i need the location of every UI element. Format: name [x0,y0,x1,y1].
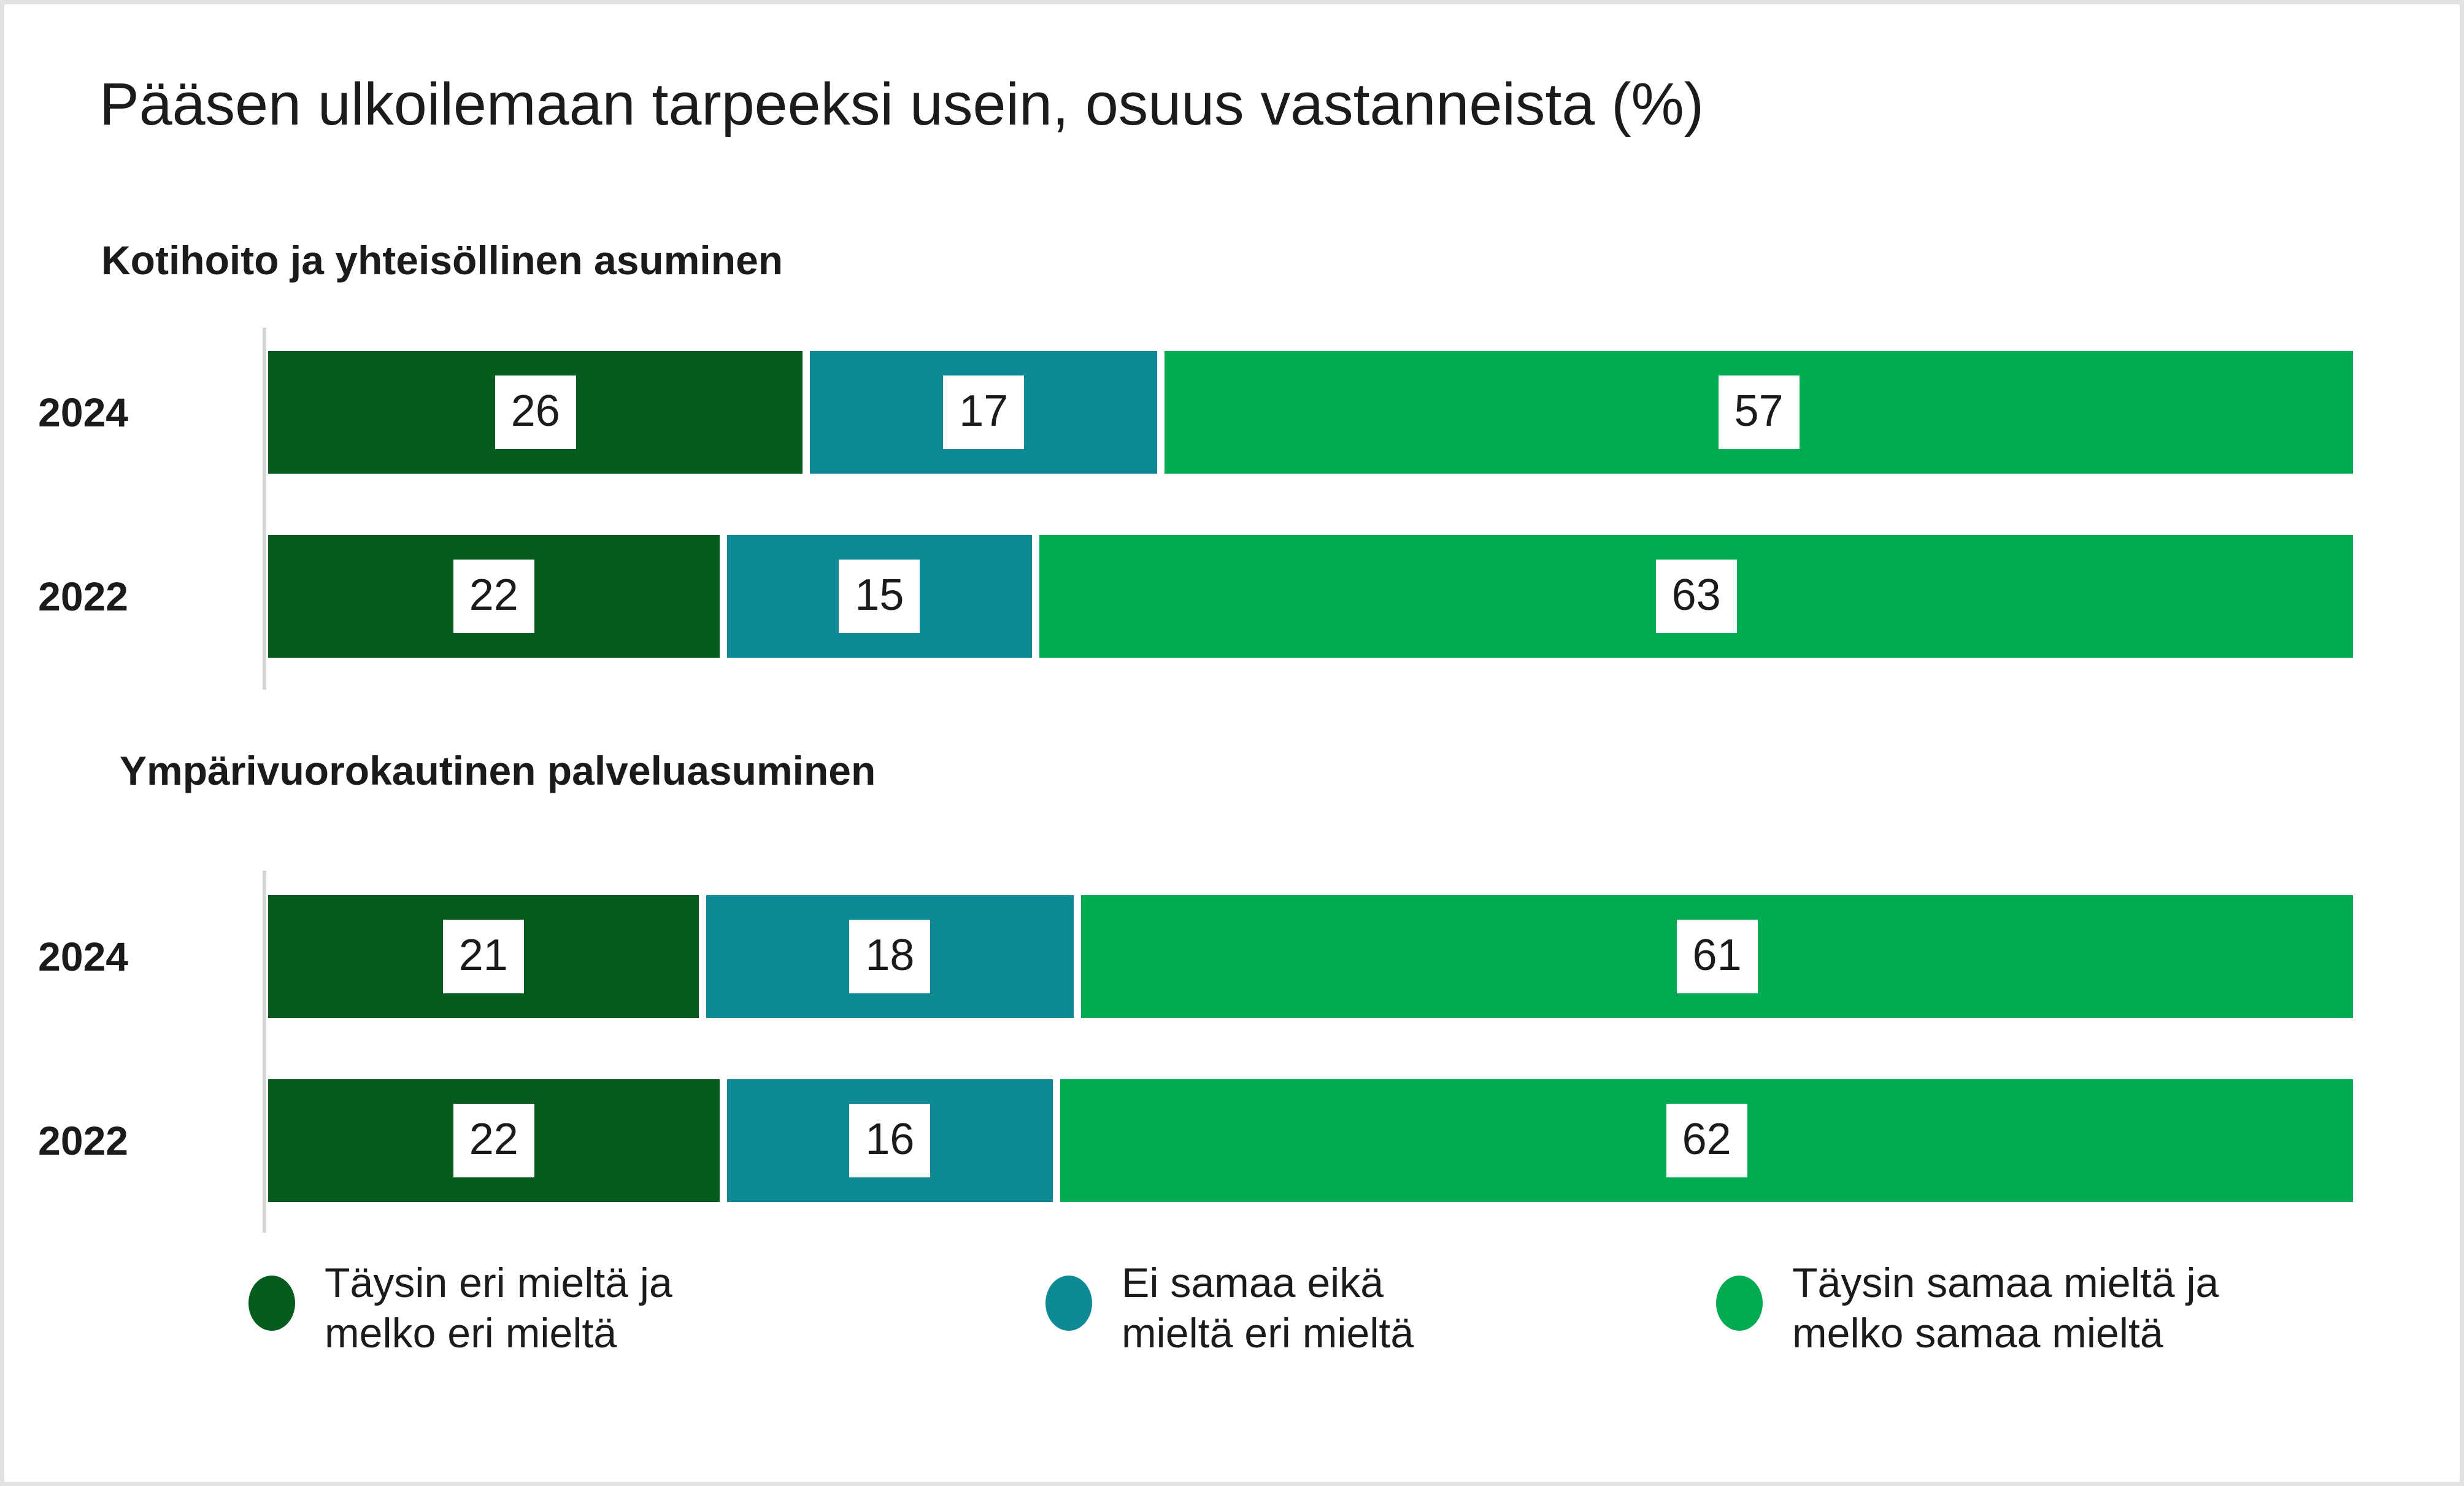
bar-segment[interactable]: 63 [1039,535,2353,658]
bar-segment[interactable]: 22 [268,1079,720,1202]
legend-label: Ei samaa eikä mieltä eri mieltä [1122,1244,1414,1358]
bar-value-label: 62 [1666,1104,1747,1177]
legend-label: Täysin samaa mieltä ja melko samaa mielt… [1792,1244,2219,1358]
bar-track: 221662 [268,1079,2353,1202]
bar-value-label: 16 [849,1104,930,1177]
chart-title: Pääsen ulkoilemaan tarpeeksi usein, osuu… [99,73,1704,136]
bar-segment[interactable]: 17 [810,351,1157,474]
bar-value-label: 57 [1719,375,1800,449]
bar-row-2024: 2024261757 [4,351,2353,474]
bar-value-label: 18 [849,920,930,993]
bar-segment[interactable]: 15 [727,535,1033,658]
chart-legend: Täysin eri mieltä ja melko eri mieltä Ei… [4,1244,2464,1409]
bar-row-year-label: 2024 [38,389,128,436]
circle-marker-icon [1716,1276,1763,1331]
bar-track: 261757 [268,351,2353,474]
circle-marker-icon [248,1276,295,1331]
bar-segment[interactable]: 21 [268,895,699,1018]
bar-track: 211861 [268,895,2353,1018]
circle-marker-icon [1045,1276,1092,1331]
bar-value-label: 21 [443,920,524,993]
bar-value-label: 61 [1677,920,1758,993]
bar-segment[interactable]: 62 [1060,1079,2353,1202]
bar-segment[interactable]: 22 [268,535,720,658]
legend-item-agree[interactable]: Täysin samaa mieltä ja melko samaa mielt… [1716,1244,2219,1358]
bar-value-label: 63 [1656,560,1737,633]
legend-item-neutral[interactable]: Ei samaa eikä mieltä eri mieltä [1045,1244,1414,1358]
bar-row-2022: 2022221563 [4,535,2353,658]
bar-row-year-label: 2024 [38,933,128,980]
bar-row-2022: 2022221662 [4,1079,2353,1202]
bar-row-2024: 2024211861 [4,895,2353,1018]
bar-value-label: 26 [495,375,576,449]
bar-row-year-label: 2022 [38,1117,128,1164]
bar-track: 221563 [268,535,2353,658]
legend-label: Täysin eri mieltä ja melko eri mieltä [325,1244,672,1358]
bar-segment[interactable]: 61 [1081,895,2353,1018]
bar-segment[interactable]: 16 [727,1079,1053,1202]
panel-title-kotihoito: Kotihoito ja yhteisöllinen asuminen [101,239,783,282]
bar-value-label: 22 [453,560,534,633]
bar-value-label: 15 [839,560,920,633]
bar-value-label: 17 [943,375,1024,449]
legend-item-disagree[interactable]: Täysin eri mieltä ja melko eri mieltä [248,1244,672,1358]
bar-segment[interactable]: 18 [706,895,1074,1018]
bar-value-label: 22 [453,1104,534,1177]
panel-title-ymparivuorokautinen: Ympärivuorokautinen palveluasuminen [120,750,876,792]
bar-segment[interactable]: 57 [1165,351,2353,474]
chart-canvas: Pääsen ulkoilemaan tarpeeksi usein, osuu… [0,0,2464,1486]
bar-row-year-label: 2022 [38,573,128,620]
bar-segment[interactable]: 26 [268,351,803,474]
